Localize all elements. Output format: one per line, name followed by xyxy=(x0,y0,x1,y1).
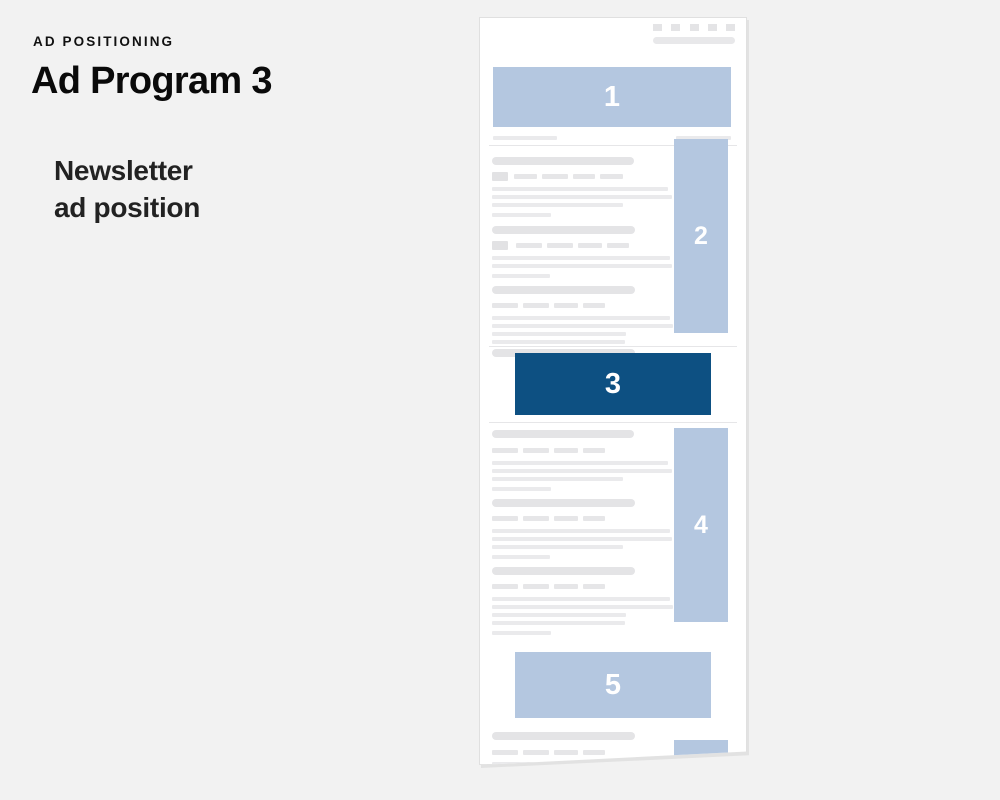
section-divider xyxy=(489,422,737,423)
skeleton-line xyxy=(492,213,551,217)
ad-slot-2[interactable]: 2 xyxy=(674,139,728,333)
skeleton-byline xyxy=(514,174,537,179)
subheading-line-1: Newsletter xyxy=(54,152,200,189)
skeleton-byline xyxy=(523,750,549,755)
skeleton-byline xyxy=(492,303,518,308)
skeleton-line xyxy=(492,316,670,320)
skeleton-line xyxy=(492,461,668,465)
skeleton-byline xyxy=(547,243,573,248)
skeleton-byline xyxy=(492,584,518,589)
skeleton-byline xyxy=(583,448,605,453)
skeleton-line xyxy=(492,555,550,559)
page-title: Ad Program 3 xyxy=(31,57,272,105)
skeleton-byline xyxy=(554,516,578,521)
skeleton-line xyxy=(492,274,550,278)
skeleton-line xyxy=(493,136,557,140)
skeleton-byline xyxy=(583,750,605,755)
skeleton-byline xyxy=(516,243,542,248)
left-text-panel: AD POSITIONING Ad Program 3 Newsletter a… xyxy=(0,0,470,800)
skeleton-byline xyxy=(492,448,518,453)
nav-square-icon[interactable] xyxy=(653,24,662,31)
skeleton-byline xyxy=(523,584,549,589)
skeleton-line xyxy=(492,340,625,344)
skeleton-line xyxy=(492,477,623,481)
skeleton-line xyxy=(492,613,626,617)
skeleton-tag xyxy=(492,241,508,250)
eyebrow-label: AD POSITIONING xyxy=(33,34,174,49)
page-canvas: 1 2 xyxy=(479,17,747,765)
skeleton-line xyxy=(492,487,551,491)
skeleton-line xyxy=(492,545,623,549)
skeleton-line xyxy=(492,264,672,268)
skeleton-byline xyxy=(607,243,629,248)
skeleton-byline xyxy=(554,584,578,589)
subheading: Newsletter ad position xyxy=(54,152,200,226)
skeleton-headline xyxy=(492,157,634,165)
skeleton-line xyxy=(492,256,670,260)
skeleton-line xyxy=(492,203,623,207)
skeleton-byline xyxy=(583,584,605,589)
skeleton-byline xyxy=(523,448,549,453)
ad-slot-3-number: 3 xyxy=(605,368,621,401)
ad-slot-5[interactable]: 5 xyxy=(515,652,711,718)
skeleton-byline xyxy=(542,174,568,179)
skeleton-byline xyxy=(523,516,549,521)
skeleton-line xyxy=(492,469,672,473)
ad-slot-5-number: 5 xyxy=(605,669,621,702)
skeleton-headline xyxy=(492,567,635,575)
skeleton-headline xyxy=(492,430,634,438)
skeleton-line xyxy=(492,324,673,328)
skeleton-line xyxy=(492,605,673,609)
skeleton-line xyxy=(492,631,551,635)
masthead-nav xyxy=(653,24,735,44)
skeleton-byline xyxy=(583,303,605,308)
skeleton-headline xyxy=(492,226,635,234)
skeleton-line xyxy=(492,537,672,541)
ad-slot-3-highlighted[interactable]: 3 xyxy=(515,353,711,415)
skeleton-line xyxy=(492,332,626,336)
skeleton-headline xyxy=(492,286,635,294)
masthead-search-bar[interactable] xyxy=(653,37,735,44)
skeleton-headline xyxy=(492,732,635,740)
ad-slot-1[interactable]: 1 xyxy=(493,67,731,127)
skeleton-tag xyxy=(492,172,508,181)
ad-slot-1-number: 1 xyxy=(604,81,620,114)
skeleton-byline xyxy=(492,750,518,755)
ad-slot-6-clipped[interactable] xyxy=(674,740,728,765)
skeleton-byline xyxy=(554,750,578,755)
nav-square-icon[interactable] xyxy=(708,24,717,31)
nav-square-icon[interactable] xyxy=(690,24,699,31)
skeleton-byline xyxy=(492,516,518,521)
ad-slot-4-number: 4 xyxy=(694,511,708,540)
skeleton-byline xyxy=(578,243,602,248)
skeleton-byline xyxy=(523,303,549,308)
skeleton-byline xyxy=(554,303,578,308)
ad-slot-2-number: 2 xyxy=(694,222,708,251)
nav-square-icon[interactable] xyxy=(671,24,680,31)
subheading-line-2: ad position xyxy=(54,189,200,226)
skeleton-byline xyxy=(583,516,605,521)
skeleton-line xyxy=(492,187,668,191)
skeleton-line xyxy=(492,195,672,199)
nav-square-icon[interactable] xyxy=(726,24,735,31)
skeleton-line xyxy=(492,621,625,625)
ad-slot-4[interactable]: 4 xyxy=(674,428,728,622)
skeleton-line xyxy=(492,597,670,601)
skeleton-byline xyxy=(573,174,595,179)
skeleton-byline xyxy=(600,174,623,179)
skeleton-line xyxy=(492,529,670,533)
newsletter-page-mockup: 1 2 xyxy=(479,17,749,769)
nav-square-row xyxy=(653,24,735,31)
skeleton-byline xyxy=(554,448,578,453)
skeleton-headline xyxy=(492,499,635,507)
section-divider xyxy=(489,346,737,347)
